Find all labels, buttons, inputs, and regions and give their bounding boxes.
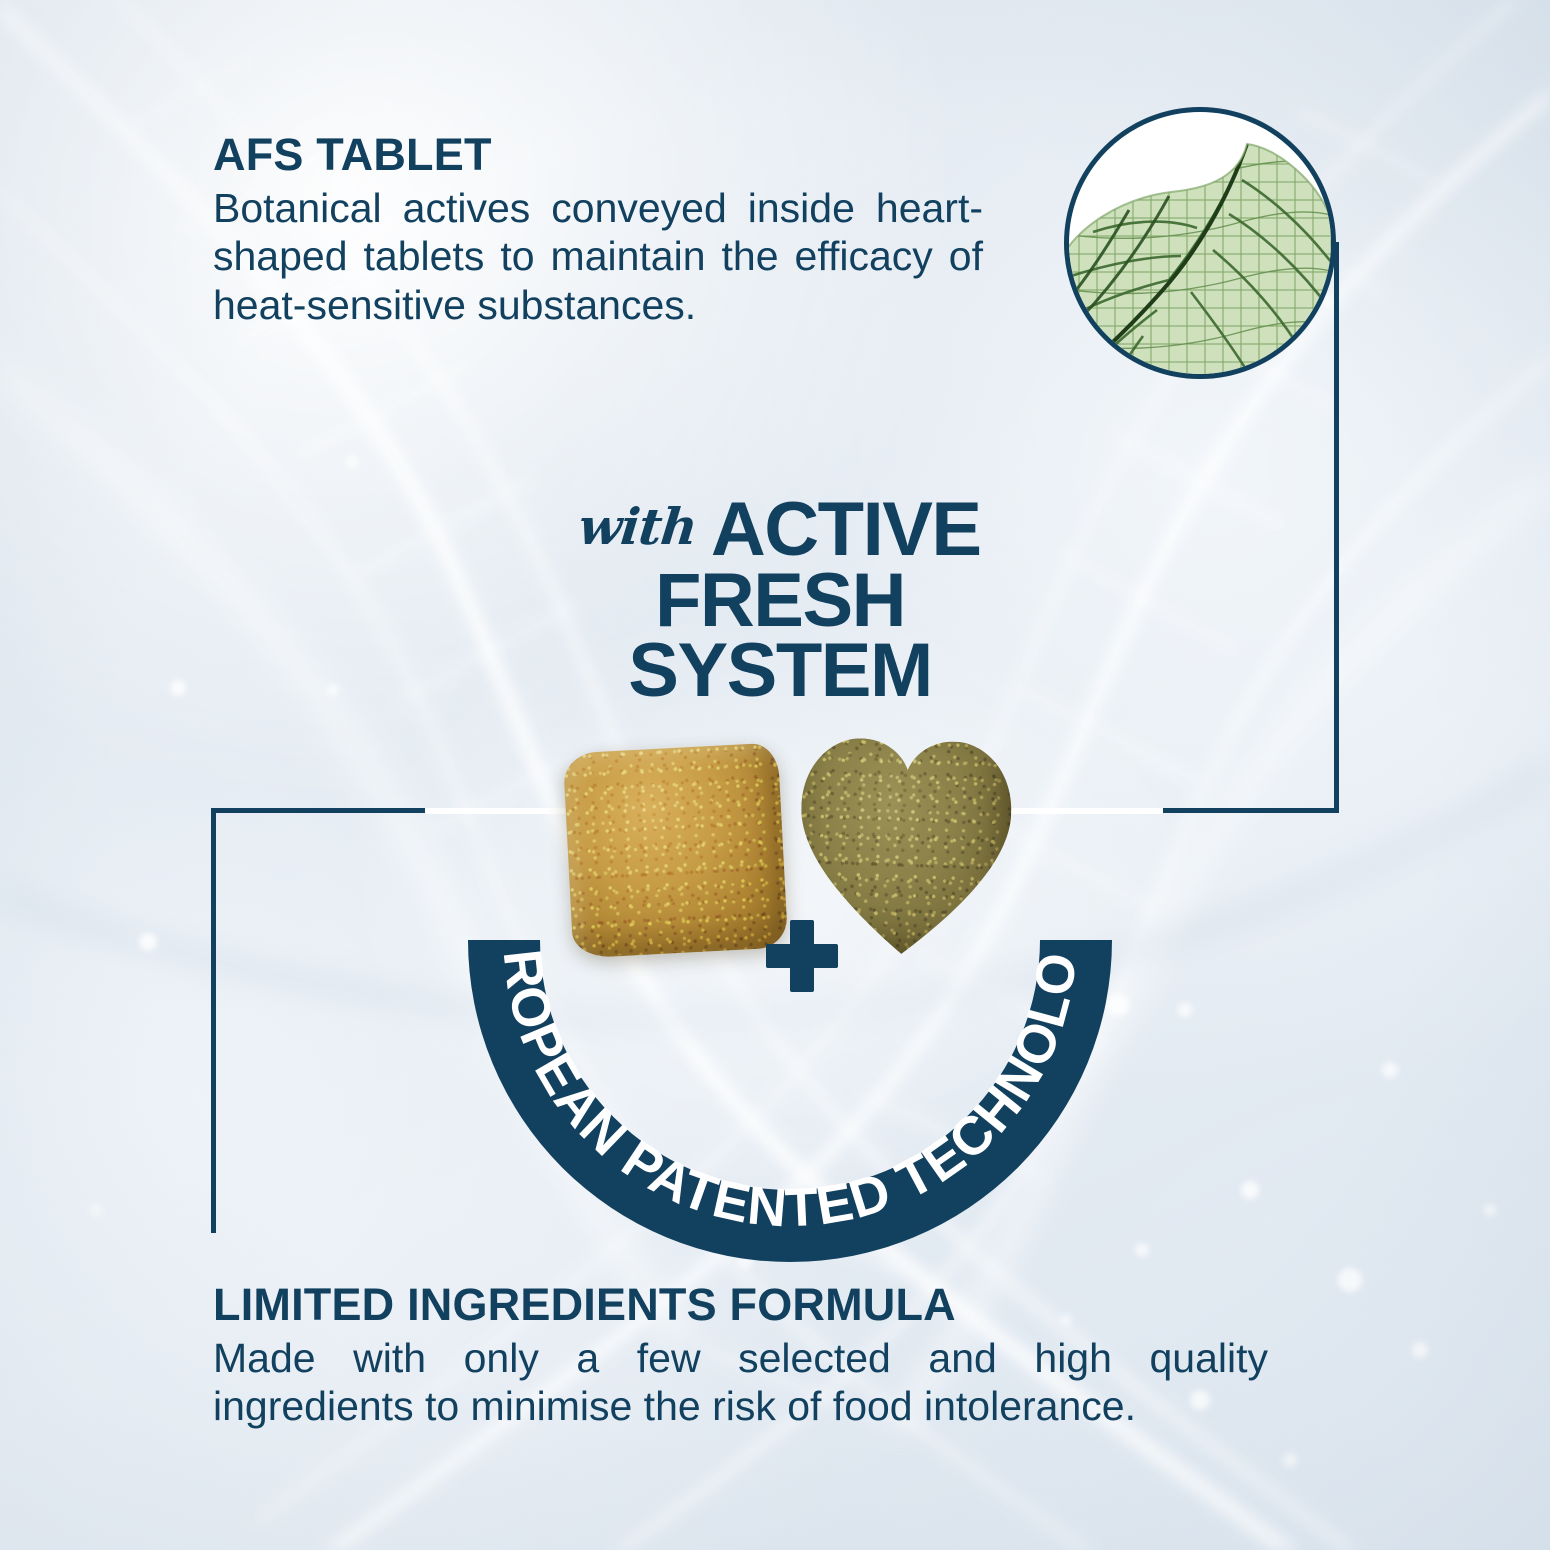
- leaf-callout-circle: [1064, 107, 1336, 379]
- afs-tablet-body: Botanical actives conveyed inside heart-…: [213, 184, 983, 329]
- afs-tablet-text-block: AFS TABLET Botanical actives conveyed in…: [213, 132, 983, 329]
- kibble-square-icon: [563, 743, 788, 959]
- headline-line-system: SYSTEM: [470, 636, 1090, 707]
- product-feature-infographic: AFS TABLET Botanical actives conveyed in…: [0, 0, 1550, 1550]
- leaf-icon: [1064, 140, 1336, 379]
- active-fresh-system-headline: with ACTIVE FRESH SYSTEM: [470, 495, 1090, 707]
- plus-icon: [766, 920, 838, 992]
- connector-left-vertical: [211, 808, 216, 1233]
- kibble-square-texture: [563, 743, 788, 959]
- connector-right-horizontal: [1150, 808, 1339, 813]
- afs-tablet-heading: AFS TABLET: [213, 132, 983, 178]
- headline-row-one: with ACTIVE: [470, 495, 1090, 566]
- connector-right-vertical: [1334, 242, 1339, 812]
- connector-left-horizontal: [211, 808, 433, 813]
- european-patented-technology-badge: EUROPEAN PATENTED TECHNOLOGY: [430, 640, 1150, 1360]
- headline-line-active: ACTIVE: [711, 495, 981, 566]
- headline-line-fresh: FRESH: [470, 566, 1090, 637]
- headline-with-word: with: [576, 497, 700, 556]
